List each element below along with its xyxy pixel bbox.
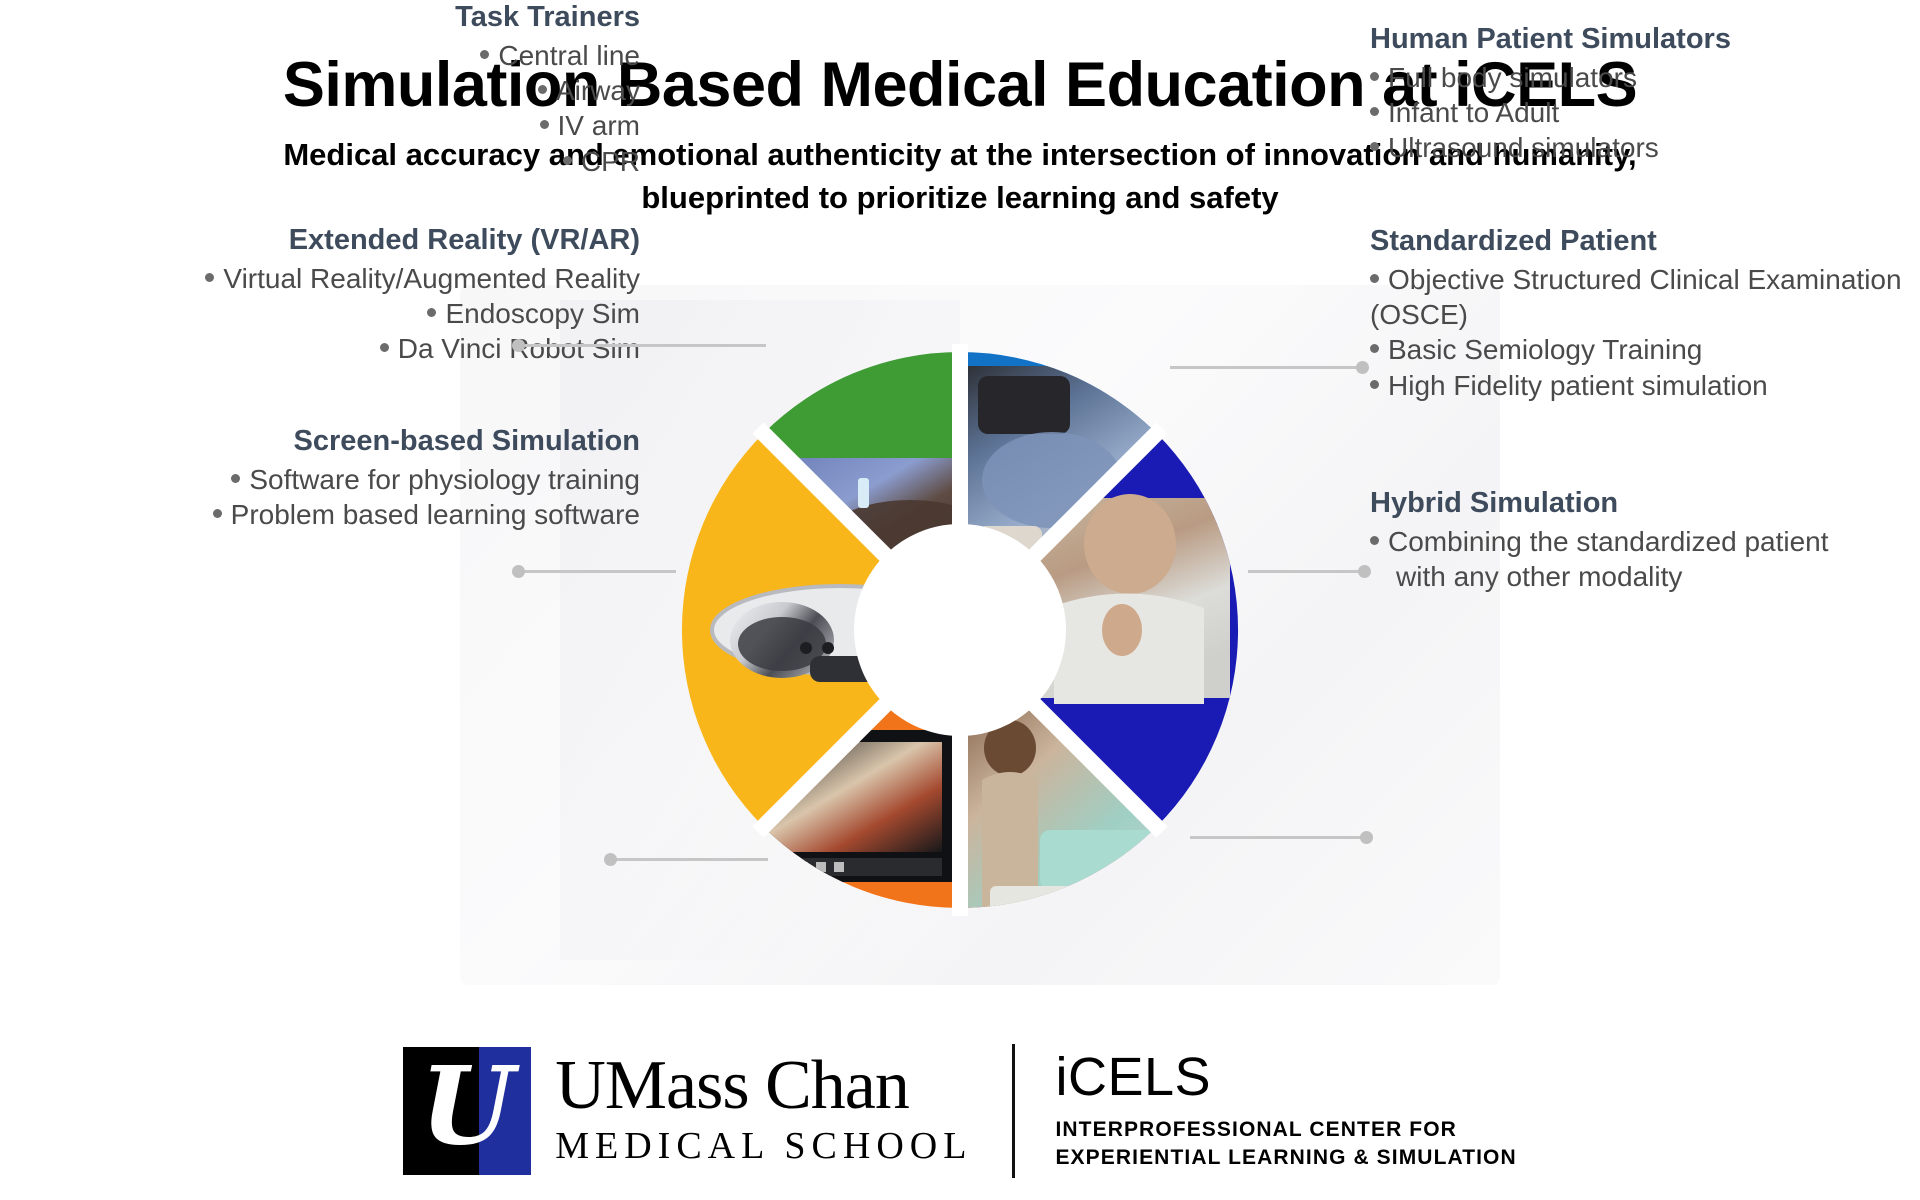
umass-school: MEDICAL SCHOOL (555, 1123, 972, 1171)
icels-tagline-line-1: INTERPROFESSIONAL CENTER FOR (1055, 1116, 1516, 1144)
bullet-dot-icon (380, 343, 389, 352)
bullet-dot-icon (231, 474, 240, 483)
list-item: Software for physiology training (20, 462, 640, 497)
icels-tagline-line-2: EXPERIENTIAL LEARNING & SIMULATION (1055, 1144, 1516, 1172)
logo-divider (1012, 1044, 1015, 1178)
block-hybrid-simulation: Hybrid Simulation Combining the standard… (1370, 486, 1840, 594)
bullet-dot-icon (213, 509, 222, 518)
bullet-dot-icon (1370, 344, 1379, 353)
list-item: Infant to Adult (1370, 95, 1910, 130)
umass-shield-icon: U (403, 1047, 531, 1175)
block-task-trainers: Task Trainers Central line Airway IV arm… (20, 0, 640, 179)
list-standardized-patient: Objective Structured Clinical Examinatio… (1370, 262, 1910, 403)
footer-logo-lockup: U UMass Chan MEDICAL SCHOOL iCELS INTERP… (0, 1044, 1920, 1178)
wheel-center-hole (854, 524, 1066, 736)
bullet-dot-icon (480, 50, 489, 59)
list-item: Airway (20, 73, 640, 108)
subtitle-line-2: blueprinted to prioritize learning and s… (30, 177, 1890, 220)
bullet-dot-icon (1370, 72, 1379, 81)
list-task-trainers: Central line Airway IV arm CPR (20, 38, 640, 179)
list-item: Central line (20, 38, 640, 73)
list-item: Combining the standardized patient with … (1370, 524, 1840, 595)
heading-screen-based-simulation: Screen-based Simulation (20, 424, 640, 459)
heading-standardized-patient: Standardized Patient (1370, 224, 1910, 259)
list-item: High Fidelity patient simulation (1370, 368, 1910, 403)
list-item: Endoscopy Sim (20, 296, 640, 331)
list-item: Virtual Reality/Augmented Reality (20, 261, 640, 296)
list-screen-based-simulation: Software for physiology training Problem… (20, 462, 640, 533)
list-extended-reality: Virtual Reality/Augmented Reality Endosc… (20, 261, 640, 367)
block-human-patient-simulators: Human Patient Simulators Full body simul… (1370, 22, 1910, 166)
bullet-dot-icon (1370, 274, 1379, 283)
bullet-dot-icon (538, 85, 547, 94)
bullet-dot-icon (563, 156, 572, 165)
list-item: Full body simulators (1370, 60, 1910, 95)
heading-extended-reality: Extended Reality (VR/AR) (20, 223, 640, 258)
list-item: Problem based learning software (20, 497, 640, 532)
list-item: Basic Semiology Training (1370, 332, 1910, 367)
list-hybrid-simulation: Combining the standardized patient with … (1370, 524, 1840, 595)
list-item: Da Vinci Robot Sim (20, 331, 640, 366)
umass-chan-logo: U UMass Chan MEDICAL SCHOOL (403, 1047, 972, 1175)
icels-name: iCELS (1055, 1050, 1516, 1104)
bullet-dot-icon (1370, 107, 1379, 116)
heading-task-trainers: Task Trainers (20, 0, 640, 35)
bullet-dot-icon (1370, 142, 1379, 151)
bullet-dot-icon (1370, 536, 1379, 545)
bullet-dot-icon (540, 120, 549, 129)
bullet-dot-icon (427, 308, 436, 317)
list-item: Objective Structured Clinical Examinatio… (1370, 262, 1910, 333)
block-standardized-patient: Standardized Patient Objective Structure… (1370, 224, 1910, 403)
umass-script-letter: U (420, 1053, 514, 1161)
heading-human-patient-simulators: Human Patient Simulators (1370, 22, 1910, 57)
list-item: IV arm (20, 108, 640, 143)
block-extended-reality: Extended Reality (VR/AR) Virtual Reality… (20, 223, 640, 367)
list-item: Ultrasound simulators (1370, 130, 1910, 165)
bullet-dot-icon (1370, 380, 1379, 389)
heading-hybrid-simulation: Hybrid Simulation (1370, 486, 1840, 521)
icels-tagline: INTERPROFESSIONAL CENTER FOR EXPERIENTIA… (1055, 1116, 1516, 1171)
bullet-dot-icon (205, 273, 214, 282)
simulation-modalities-wheel (660, 330, 1260, 930)
block-screen-based-simulation: Screen-based Simulation Software for phy… (20, 424, 640, 532)
infographic-page: Simulation Based Medical Education at iC… (0, 0, 1920, 1200)
list-item: CPR (20, 144, 640, 179)
umass-name: UMass Chan (555, 1051, 972, 1121)
icels-logo: iCELS INTERPROFESSIONAL CENTER FOR EXPER… (1055, 1050, 1516, 1171)
umass-wordmark: UMass Chan MEDICAL SCHOOL (555, 1051, 972, 1171)
list-human-patient-simulators: Full body simulators Infant to Adult Ult… (1370, 60, 1910, 166)
